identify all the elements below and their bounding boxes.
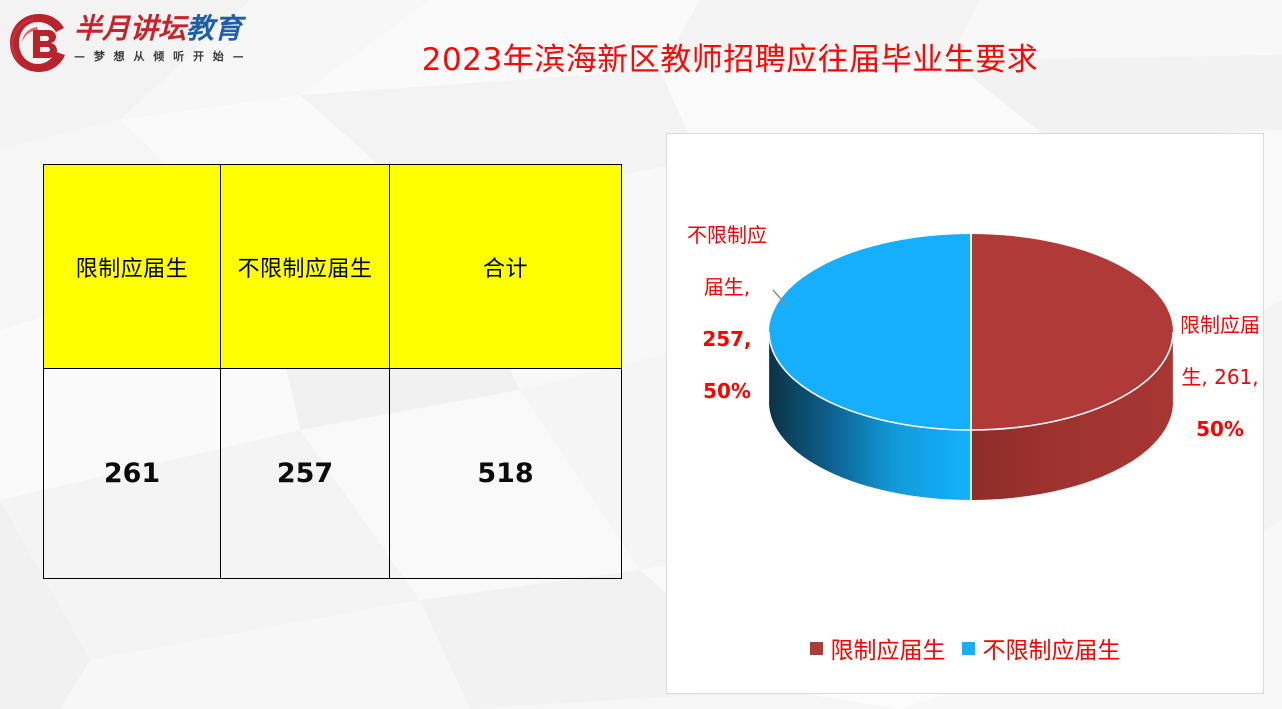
- logo-tagline: — 梦 想 从 倾 听 开 始 —: [74, 48, 266, 64]
- pie-label-restricted-line1: 限制应届: [1155, 312, 1282, 338]
- pie-label-unrestricted: 不限制应 届生, 257, 50%: [663, 196, 791, 430]
- legend-item-restricted[interactable]: 限制应届生: [810, 631, 946, 665]
- legend-label-restricted: 限制应届生: [831, 631, 946, 665]
- pie-label-unrestricted-line1: 不限制应: [663, 222, 791, 248]
- table-header-row: 限制应届生 不限制应届生 合计: [44, 165, 622, 369]
- logo-name-part1: 半月讲坛: [74, 12, 186, 45]
- legend-label-unrestricted: 不限制应届生: [983, 631, 1121, 665]
- pie-chart-panel: 不限制应 届生, 257, 50% 限制应届 生, 261, 50% 限制应届生…: [666, 133, 1264, 694]
- table-row: 261 257 518: [44, 369, 622, 579]
- table-cell-restricted-count: 261: [44, 369, 221, 579]
- logo-mark-icon: [6, 10, 72, 76]
- legend-item-unrestricted[interactable]: 不限制应届生: [962, 631, 1121, 665]
- pie-label-unrestricted-percent: 50%: [663, 378, 791, 404]
- chart-legend: 限制应届生 不限制应届生: [667, 631, 1263, 665]
- legend-swatch-restricted-icon: [810, 642, 823, 655]
- logo-name-part2: 教育: [186, 12, 242, 45]
- pie-label-unrestricted-value: 257,: [663, 326, 791, 352]
- summary-table: 限制应届生 不限制应届生 合计 261 257 518: [43, 164, 622, 579]
- pie-label-restricted-line2: 生, 261,: [1155, 364, 1282, 390]
- table-cell-total-count: 518: [390, 369, 622, 579]
- table-header-cell-2: 合计: [390, 165, 622, 369]
- pie-label-restricted-percent: 50%: [1155, 416, 1282, 442]
- brand-logo: 半月讲坛教育 — 梦 想 从 倾 听 开 始 —: [6, 8, 268, 80]
- table-header-cell-1: 不限制应届生: [221, 165, 390, 369]
- legend-swatch-unrestricted-icon: [962, 642, 975, 655]
- page-title: 2023年滨海新区教师招聘应往届毕业生要求: [300, 34, 1160, 79]
- table-cell-unrestricted-count: 257: [221, 369, 390, 579]
- pie-label-restricted: 限制应届 生, 261, 50%: [1155, 286, 1282, 468]
- pie-label-unrestricted-line2: 届生,: [663, 274, 791, 300]
- logo-wordmark: 半月讲坛教育 — 梦 想 从 倾 听 开 始 —: [74, 12, 266, 64]
- table-header-cell-0: 限制应届生: [44, 165, 221, 369]
